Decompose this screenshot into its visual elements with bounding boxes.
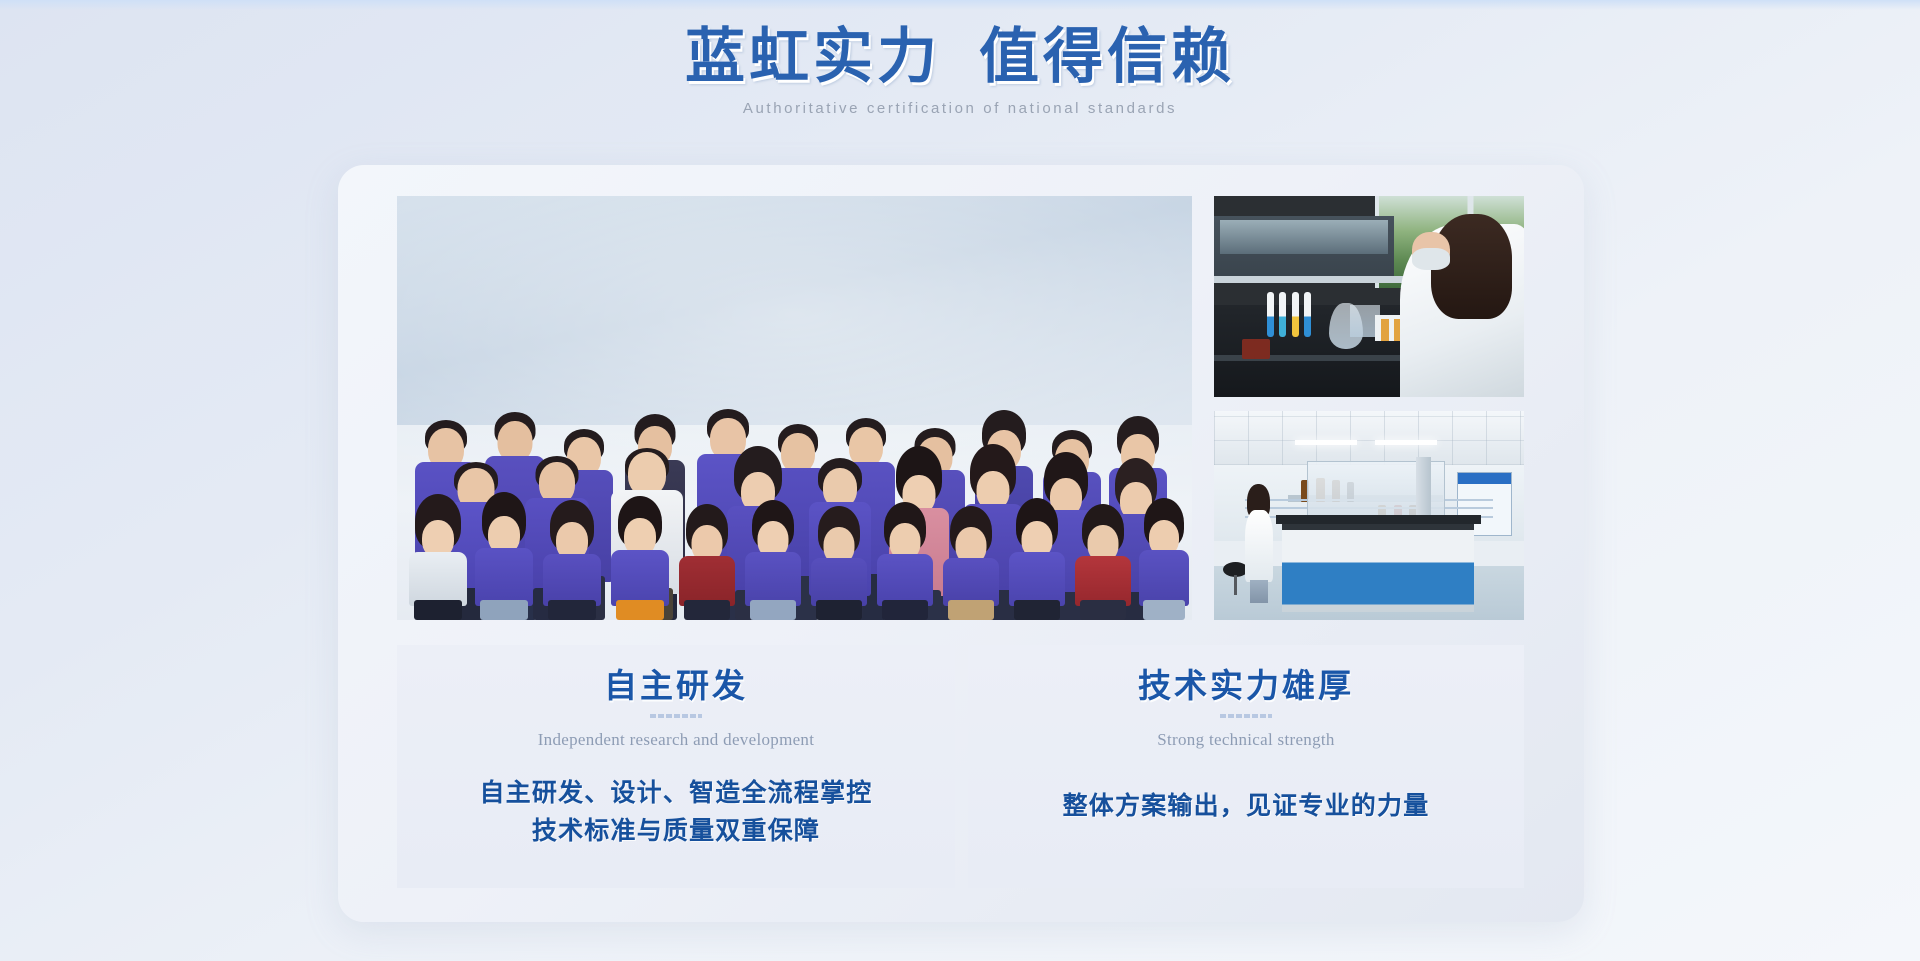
card-heading: 自主研发	[397, 645, 955, 705]
feature-card-technical-strength[interactable]: 技术实力雄厚 Strong technical strength 整体方案输出，…	[968, 645, 1524, 888]
page-header: 蓝虹实力 值得信赖 Authoritative certification of…	[0, 26, 1920, 117]
card-body-text: 整体方案输出，见证专业的力量	[968, 788, 1524, 826]
card-body-line: 技术标准与质量双重保障	[397, 813, 955, 851]
feature-card-independent-rnd[interactable]: 自主研发 Independent research and developmen…	[397, 645, 955, 888]
media-grid	[397, 196, 1524, 620]
lab-technician-pipetting-photo	[1214, 196, 1524, 397]
page-title: 蓝虹实力 值得信赖	[0, 26, 1920, 89]
page-subtitle: Authoritative certification of national …	[0, 100, 1920, 117]
laboratory-room-photo	[1214, 411, 1524, 620]
feature-cards: 自主研发 Independent research and developmen…	[397, 645, 1524, 888]
card-body-line: 自主研发、设计、智造全流程掌控	[397, 775, 955, 813]
dashed-divider	[1220, 714, 1272, 718]
company-team-group-photo	[397, 196, 1192, 620]
card-english-subtitle: Independent research and development	[397, 730, 955, 750]
card-body-text: 自主研发、设计、智造全流程掌控 技术标准与质量双重保障	[397, 775, 955, 851]
card-heading: 技术实力雄厚	[968, 645, 1524, 705]
dashed-divider	[650, 714, 702, 718]
card-body-line: 整体方案输出，见证专业的力量	[968, 788, 1524, 826]
content-panel: 自主研发 Independent research and developmen…	[338, 165, 1584, 922]
card-english-subtitle: Strong technical strength	[968, 730, 1524, 750]
page-root: 蓝虹实力 值得信赖 Authoritative certification of…	[0, 0, 1920, 961]
